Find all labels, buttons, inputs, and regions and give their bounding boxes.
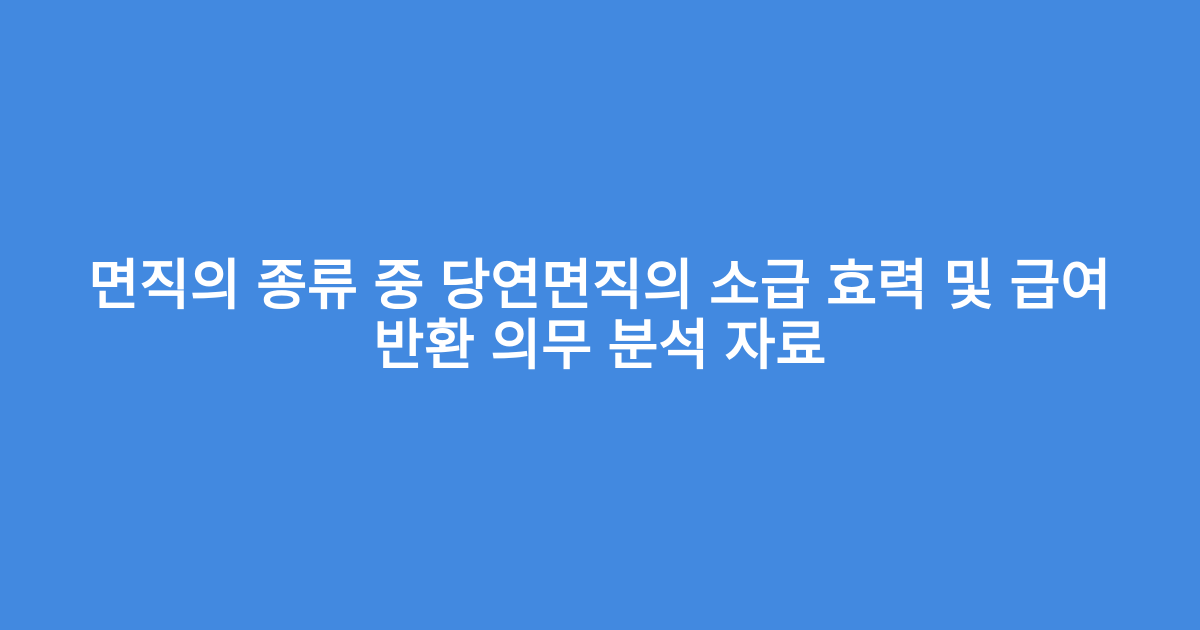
banner-content: 면직의 종류 중 당연면직의 소급 효력 및 급여 반환 의무 분석 자료 [64,255,1136,375]
page-title: 면직의 종류 중 당연면직의 소급 효력 및 급여 반환 의무 분석 자료 [64,255,1136,375]
og-banner: 면직의 종류 중 당연면직의 소급 효력 및 급여 반환 의무 분석 자료 [0,0,1200,630]
